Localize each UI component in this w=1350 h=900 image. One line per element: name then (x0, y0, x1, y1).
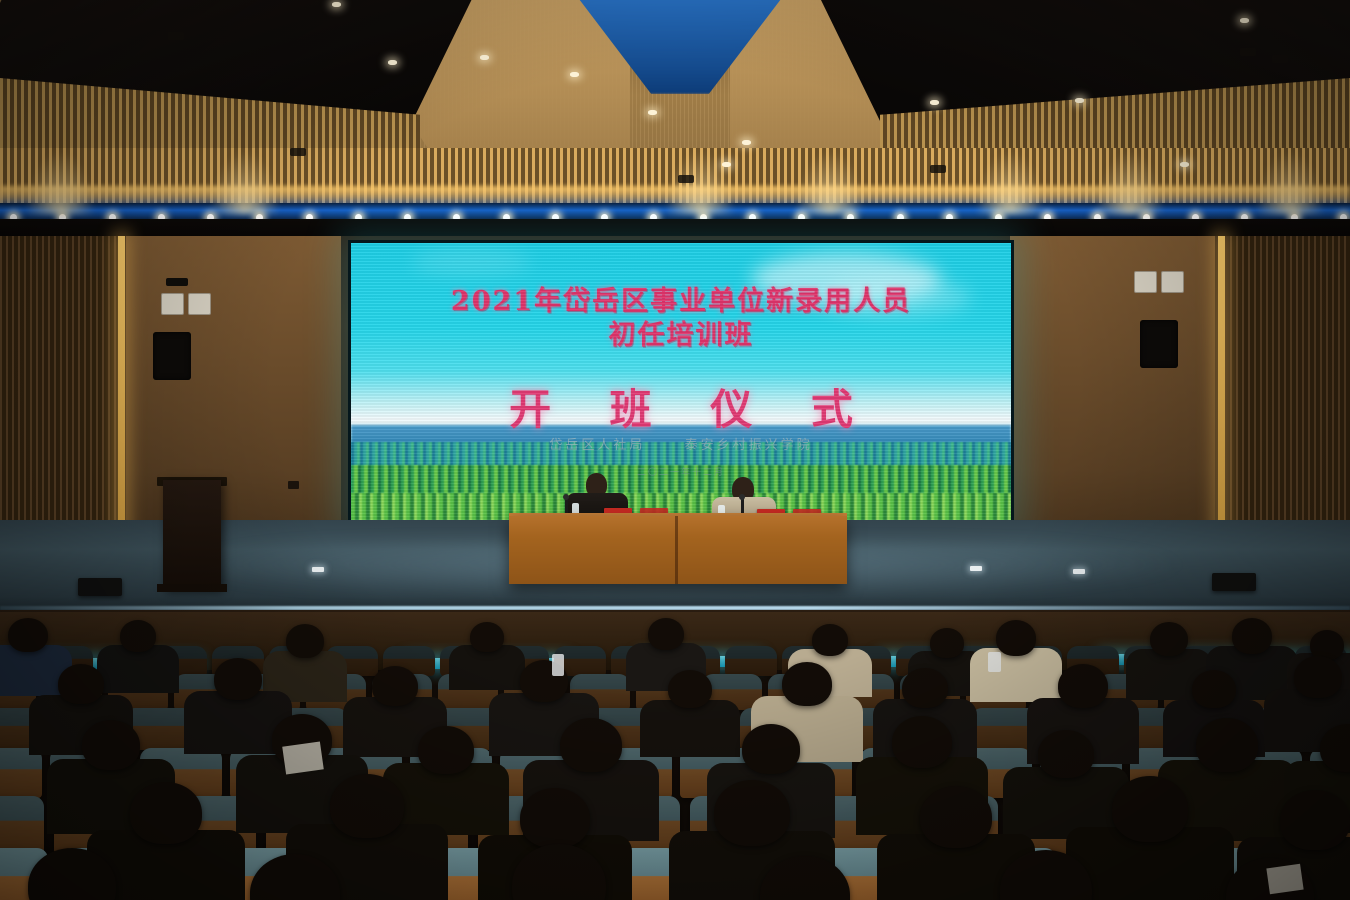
speaker-mount-left (166, 278, 188, 286)
screen-subtitle: 岱岳区人社局 泰安乡村振兴学院 (351, 434, 1011, 453)
audience-member-head (120, 620, 156, 652)
audience-member-head (330, 774, 404, 838)
ceiling-recessed-light (388, 60, 397, 65)
ceiling-recessed-light (648, 110, 657, 115)
ceiling-light-beam (975, 150, 1045, 214)
audience-member-head (812, 624, 848, 656)
wall-switch-plate-left-a[interactable] (161, 293, 184, 315)
handout-paper (1266, 864, 1303, 894)
audience-member-head (418, 726, 474, 774)
ceiling-mounted-device (1240, 48, 1256, 56)
audience-member-head (1112, 776, 1188, 842)
audience-member-head (930, 628, 964, 658)
led-screen-content: 2021年岱岳区事业单位新录用人员 初任培训班 开 班 仪 式 岱岳区人社局 泰… (351, 243, 1011, 527)
audience-member-head (560, 718, 622, 772)
audience-member-shoulders (97, 645, 179, 693)
stage-monitor-left (78, 578, 122, 596)
ceiling-recessed-light (332, 2, 341, 7)
wall-light-strip-right (1218, 236, 1225, 548)
ceiling-light-beam (1095, 150, 1165, 214)
audience-member-head (8, 618, 48, 652)
ceiling-recessed-light (1180, 162, 1189, 167)
audience-member-shoulders (970, 648, 1062, 702)
ceiling-recessed-light (1075, 98, 1084, 103)
audience-member-head (1280, 790, 1350, 850)
ceiling-recessed-light (742, 140, 751, 145)
screen-main-heading: 开 班 仪 式 (351, 376, 1011, 437)
water-cup (552, 654, 564, 676)
ceiling-mounted-device (678, 175, 694, 183)
audience-member-head (742, 724, 800, 774)
audience-member-shoulders (449, 645, 525, 690)
audience-member-head (520, 788, 590, 848)
audience-member-head (58, 664, 104, 704)
microphone-head-right (739, 494, 745, 500)
ceiling-light-beam (25, 150, 95, 214)
ceiling-recessed-light (1240, 18, 1249, 23)
cloud-shape-c (411, 249, 531, 275)
ceiling-mounted-device (290, 148, 306, 156)
wall-switch-plate-right-a[interactable] (1134, 271, 1157, 293)
audience-member-head (286, 624, 324, 658)
audience-member-head (902, 668, 948, 708)
audience-member-head (1150, 622, 1188, 656)
screen-subtitle-left: 岱岳区人社局 (549, 438, 645, 453)
audience-member-head (372, 666, 418, 706)
stage-floor-light-right (970, 566, 982, 571)
stage-floor-light-far-right (1073, 569, 1085, 574)
audience-member-head (920, 786, 992, 848)
audience-member-head (1232, 618, 1272, 654)
audience-seat[interactable] (0, 796, 44, 854)
lectern-base (157, 584, 227, 592)
audience-member-head (648, 618, 684, 650)
ceiling-mounted-device (168, 32, 184, 40)
audience-member-head (470, 622, 504, 652)
microphone-head-left (563, 494, 569, 500)
ceiling-mounted-device (1272, 55, 1288, 63)
audience-member-head (82, 720, 140, 770)
screen-date-line: 二〇二一年十二月 (351, 465, 1011, 478)
ceiling-mounted-device (930, 165, 946, 173)
ceiling-recessed-light (722, 162, 731, 167)
audience-area (0, 612, 1350, 900)
audience-member-head (1058, 664, 1108, 708)
audience-member-head (1038, 730, 1094, 778)
stage-floor-light-left (312, 567, 324, 572)
wall-switch-plate-left-b[interactable] (188, 293, 211, 315)
ceiling-light-beam (1255, 150, 1325, 214)
audience-member-head (892, 716, 952, 768)
wall-light-strip-left (118, 236, 125, 548)
wall-speaker-right (1140, 320, 1178, 368)
ceiling-recessed-light (570, 72, 579, 77)
audience-member-head (996, 620, 1036, 656)
ceiling-light-beam (795, 150, 865, 214)
screen-title-line2: 初任培训班 (351, 313, 1011, 352)
audience-member-head (130, 782, 202, 844)
lectern[interactable] (163, 480, 221, 590)
auditorium-scene: 2021年岱岳区事业单位新录用人员 初任培训班 开 班 仪 式 岱岳区人社局 泰… (0, 0, 1350, 900)
audience-member-head (1192, 670, 1236, 708)
stage-monitor-right (1212, 573, 1256, 591)
audience-member-head (714, 780, 790, 846)
head-table (509, 516, 847, 584)
audience-member-head (1196, 718, 1258, 772)
head-table-seam (675, 516, 678, 584)
ceiling-recessed-light (480, 55, 489, 60)
audience-member-head (1294, 656, 1342, 698)
led-screen[interactable]: 2021年岱岳区事业单位新录用人员 初任培训班 开 班 仪 式 岱岳区人社局 泰… (348, 240, 1014, 530)
audience-member-head (668, 670, 712, 708)
audience-member-shoulders (640, 700, 740, 757)
audience-seat[interactable] (0, 748, 42, 798)
wall-switch-plate-right-b[interactable] (1161, 271, 1184, 293)
audience-member-head (782, 662, 832, 706)
wall-speaker-left (153, 332, 191, 380)
ceiling-light-beam (665, 150, 735, 214)
handout-paper (282, 741, 324, 774)
audience-member-head (214, 658, 262, 700)
ceiling-light-beam (210, 150, 280, 214)
wall-outlet-left[interactable] (288, 481, 299, 489)
ceiling (0, 0, 1350, 238)
mobile-phone (988, 652, 1001, 672)
audience-seat[interactable] (725, 646, 777, 676)
screen-subtitle-right: 泰安乡村振兴学院 (685, 438, 813, 453)
ceiling-recessed-light (930, 100, 939, 105)
